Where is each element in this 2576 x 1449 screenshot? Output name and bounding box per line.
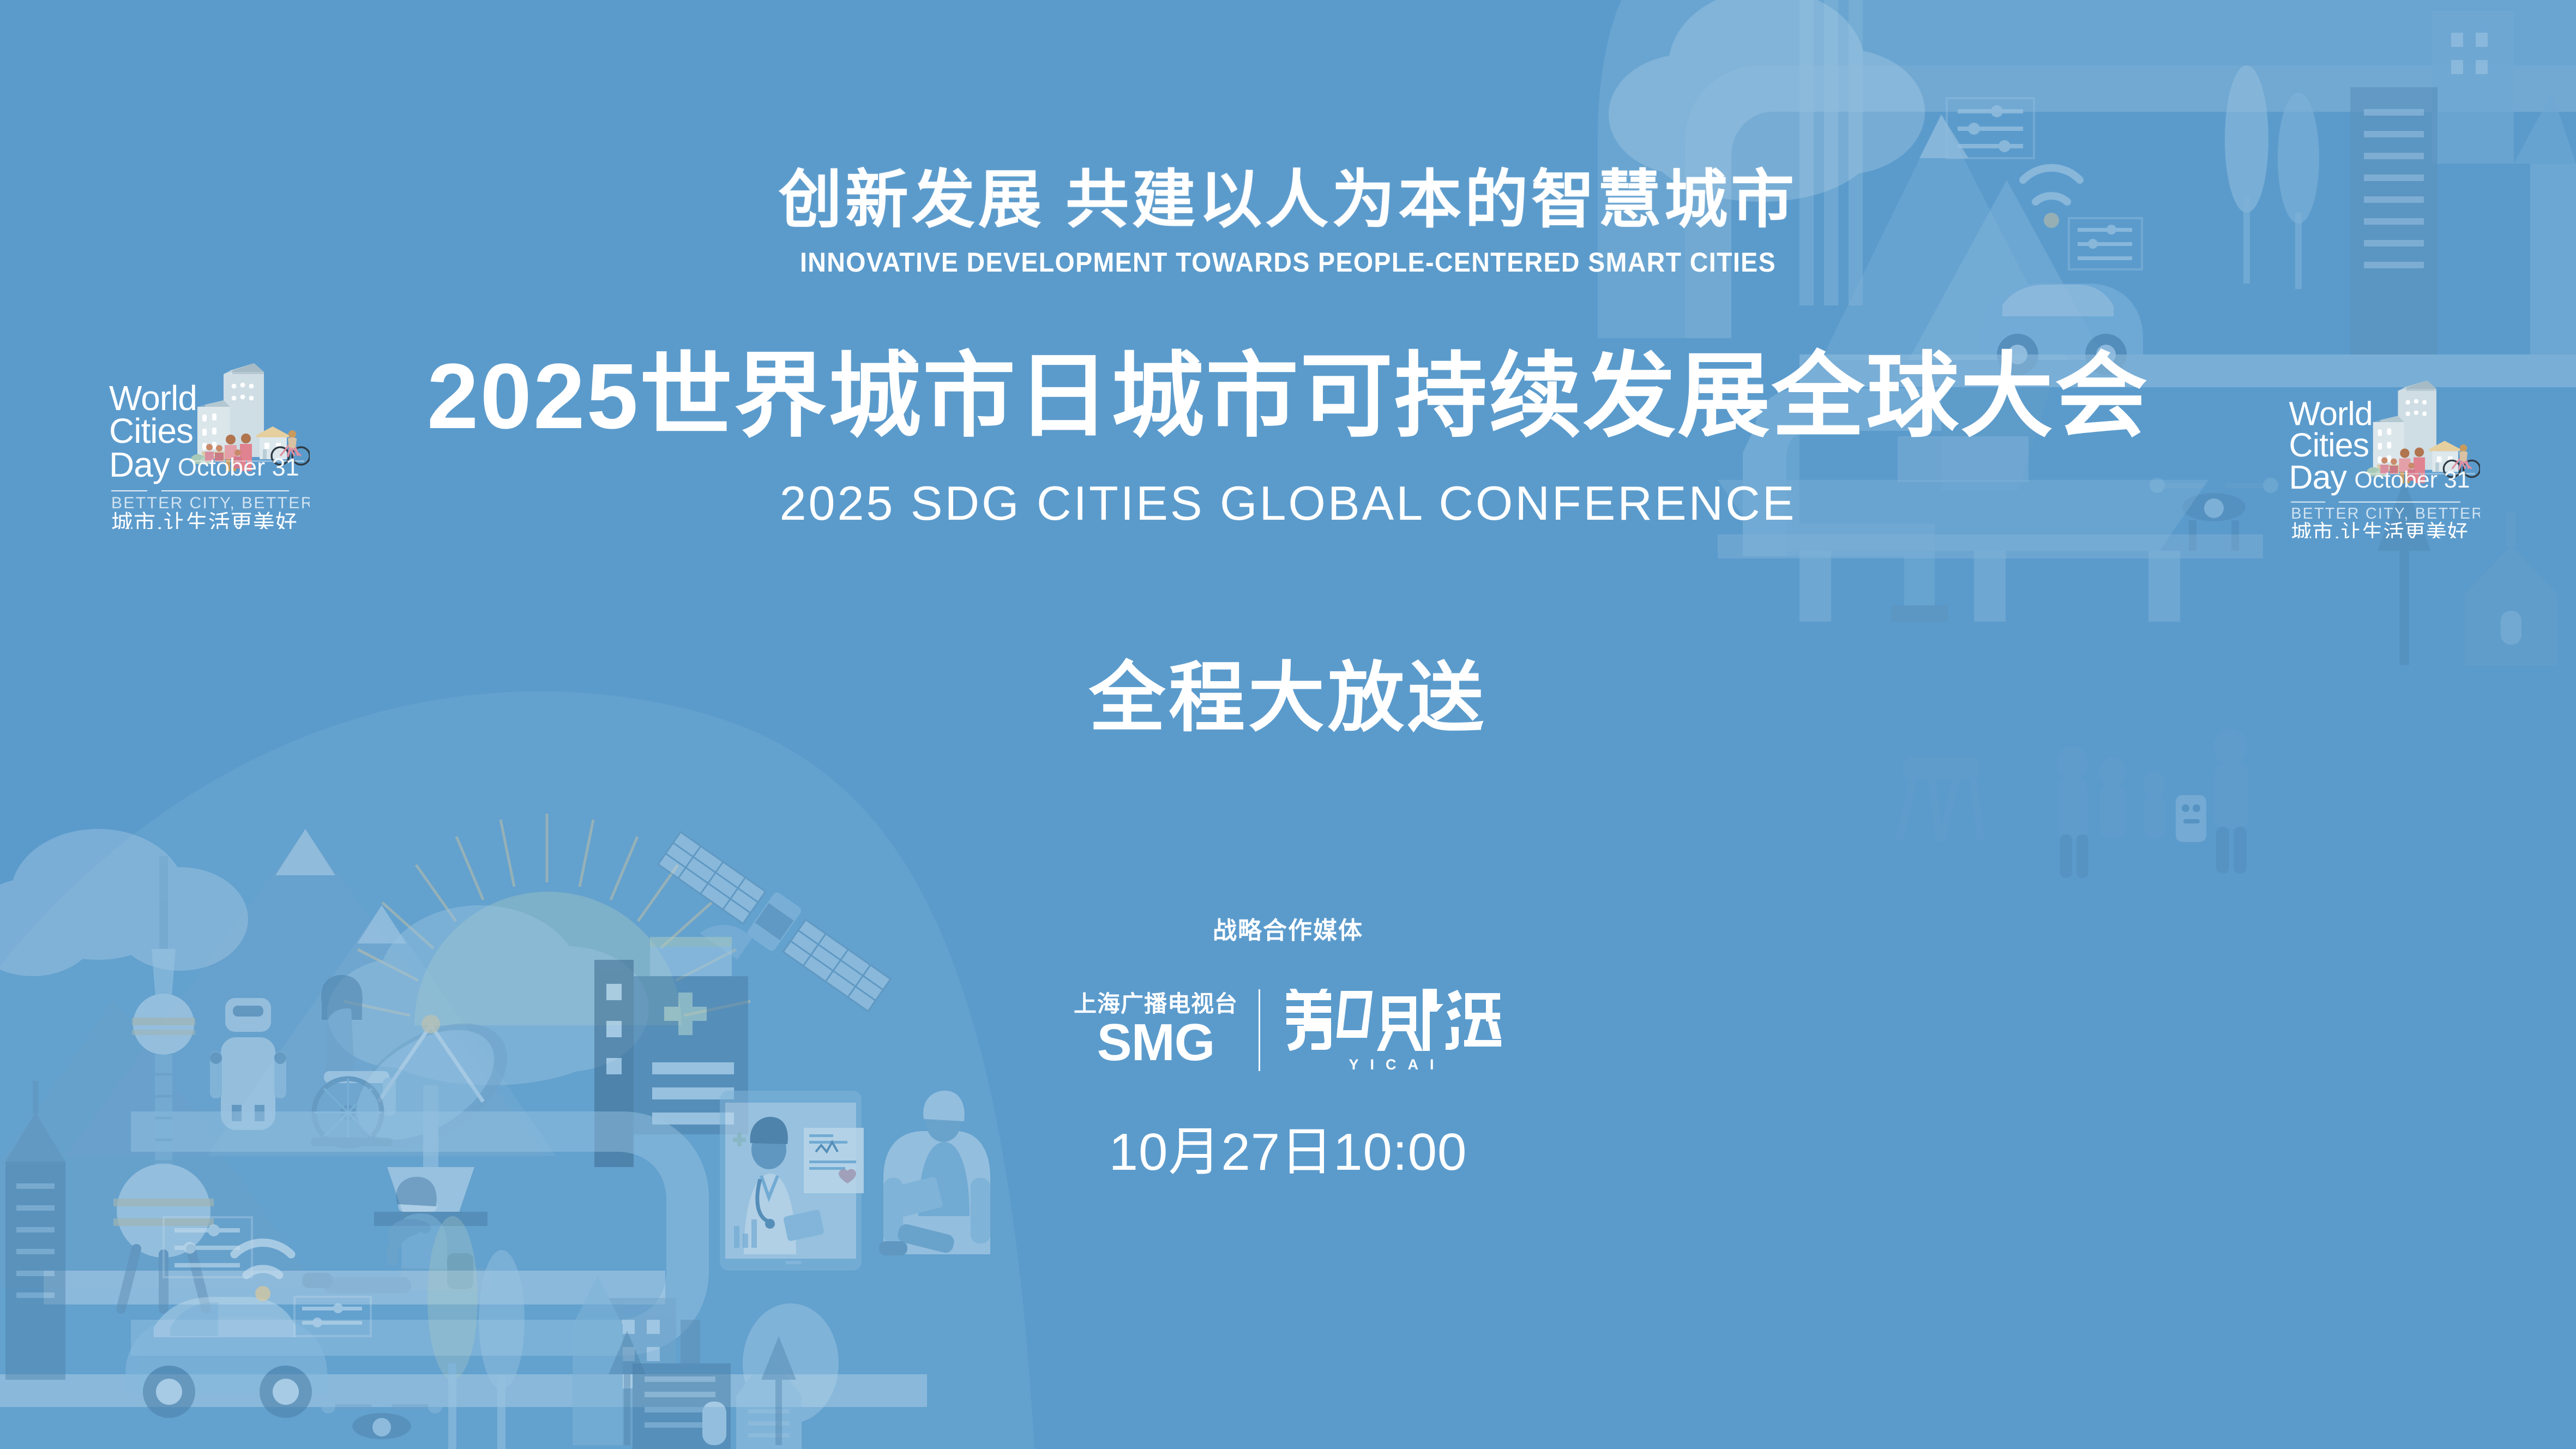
world-cities-day-logo-right: World Cities Day October 31 BETTER CITY,… [2262, 377, 2480, 538]
svg-text:城市,让生活更美好: 城市,让生活更美好 [2291, 520, 2468, 538]
yicai-logo: YICAI [1260, 988, 1502, 1072]
yicai-chinese-wordmark [1284, 988, 1502, 1052]
conference-title-english: 2025 SDG CITIES GLOBAL CONFERENCE [0, 474, 2576, 532]
svg-text:Cities: Cities [2289, 426, 2369, 464]
media-partner-label: 战略合作媒体 [0, 919, 2576, 943]
tagline-english: INNOVATIVE DEVELOPMENT TOWARDS PEOPLE-CE… [90, 246, 2485, 279]
svg-text:Day: Day [2289, 459, 2348, 496]
media-partner-logos: 上海广播电视台 SMG [0, 988, 2576, 1072]
smg-logo: 上海广播电视台 SMG [1074, 993, 1259, 1067]
svg-text:城市,让生活更美好: 城市,让生活更美好 [111, 510, 298, 529]
tagline-block: 创新发展 共建以人为本的智慧城市 INNOVATIVE DEVELOPMENT … [0, 164, 2576, 279]
smg-wordmark: SMG [1097, 1019, 1215, 1067]
conference-promo-poster: 创新发展 共建以人为本的智慧城市 INNOVATIVE DEVELOPMENT … [0, 0, 2576, 1449]
media-partner-block: 战略合作媒体 上海广播电视台 SMG [0, 919, 2576, 1072]
conference-title-chinese: 2025世界城市日城市可持续发展全球大会 [0, 345, 2576, 448]
svg-text:October 31: October 31 [178, 453, 299, 481]
yicai-pinyin: YICAI [1349, 1057, 1445, 1072]
broadcast-highlight-text: 全程大放送 [0, 660, 2576, 736]
svg-text:October 31: October 31 [2355, 467, 2470, 493]
logo-divider [1259, 989, 1260, 1071]
world-cities-day-logo-left: World Cities Day October 31 BETTER CITY,… [81, 360, 310, 529]
broadcast-datetime: 10月27日10:00 [0, 1126, 2576, 1179]
svg-text:BETTER CITY, BETTER LIFE: BETTER CITY, BETTER LIFE [111, 494, 310, 512]
smg-chinese-name: 上海广播电视台 [1074, 993, 1238, 1015]
svg-text:Day: Day [109, 445, 170, 484]
main-title-block: 2025世界城市日城市可持续发展全球大会 2025 SDG CITIES GLO… [0, 345, 2576, 532]
tagline-chinese: 创新发展 共建以人为本的智慧城市 [0, 164, 2576, 236]
